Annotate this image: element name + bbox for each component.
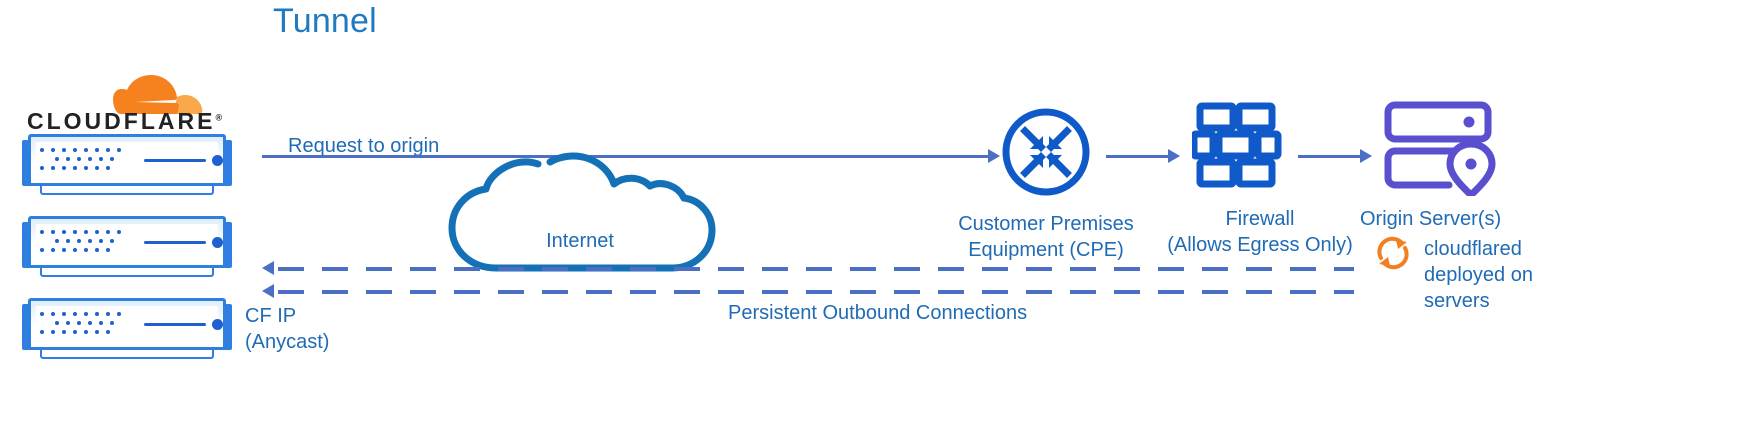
firewall-label-line1: Firewall xyxy=(1140,206,1380,232)
cloudflare-edge-server-3 xyxy=(22,298,232,360)
server-status-bar xyxy=(144,323,206,326)
server-led-icon xyxy=(212,319,223,330)
firewall-to-origin-line xyxy=(1298,155,1362,158)
cpe-label-line2: Equipment (CPE) xyxy=(930,237,1162,263)
persistent-outbound-label: Persistent Outbound Connections xyxy=(728,300,1068,326)
persistent-outbound-arrowhead-1-icon xyxy=(262,261,274,275)
cpe-to-firewall-line xyxy=(1106,155,1170,158)
server-port-dots-icon xyxy=(40,148,128,174)
firewall-label-line2: (Allows Egress Only) xyxy=(1140,232,1380,258)
persistent-outbound-line-2 xyxy=(278,290,1354,294)
cloudflare-wordmark: CLOUDFLARE® xyxy=(27,108,223,135)
network-expand-circle-icon xyxy=(1000,106,1092,198)
internet-label: Internet xyxy=(500,228,660,254)
server-status-bar xyxy=(144,241,206,244)
server-base xyxy=(40,186,214,195)
server-port-dots-icon xyxy=(40,312,128,338)
cf-ip-label-line2: (Anycast) xyxy=(245,329,385,355)
origin-server-label: Origin Server(s) xyxy=(1360,206,1540,232)
cpe-label: Customer Premises Equipment (CPE) xyxy=(930,211,1162,263)
server-base xyxy=(40,268,214,277)
firewall-to-origin-arrowhead-icon xyxy=(1360,149,1372,163)
cloudflare-edge-server-2 xyxy=(22,216,232,278)
request-to-origin-arrowhead-icon xyxy=(988,149,1000,163)
server-base xyxy=(40,350,214,359)
persistent-outbound-line-1 xyxy=(278,267,1354,271)
cloudflared-label: cloudflared deployed on servers xyxy=(1424,236,1554,314)
cpe-label-line1: Customer Premises xyxy=(930,211,1162,237)
server-port-dots-icon xyxy=(40,230,128,256)
cpe-to-firewall-arrowhead-icon xyxy=(1168,149,1180,163)
cloudflare-edge-server-1 xyxy=(22,134,232,196)
server-status-bar xyxy=(144,159,206,162)
persistent-outbound-arrowhead-2-icon xyxy=(262,284,274,298)
server-rack-location-pin-icon xyxy=(1383,100,1503,196)
cloudflare-logo: CLOUDFLARE® xyxy=(27,72,227,134)
circular-arrows-refresh-icon xyxy=(1374,234,1412,272)
cf-ip-label: CF IP (Anycast) xyxy=(245,303,385,355)
cf-ip-label-line1: CF IP xyxy=(245,303,385,329)
server-led-icon xyxy=(212,155,223,166)
brick-wall-icon xyxy=(1192,101,1284,193)
firewall-label: Firewall (Allows Egress Only) xyxy=(1140,206,1380,258)
page-title: Tunnel xyxy=(273,8,377,34)
server-led-icon xyxy=(212,237,223,248)
